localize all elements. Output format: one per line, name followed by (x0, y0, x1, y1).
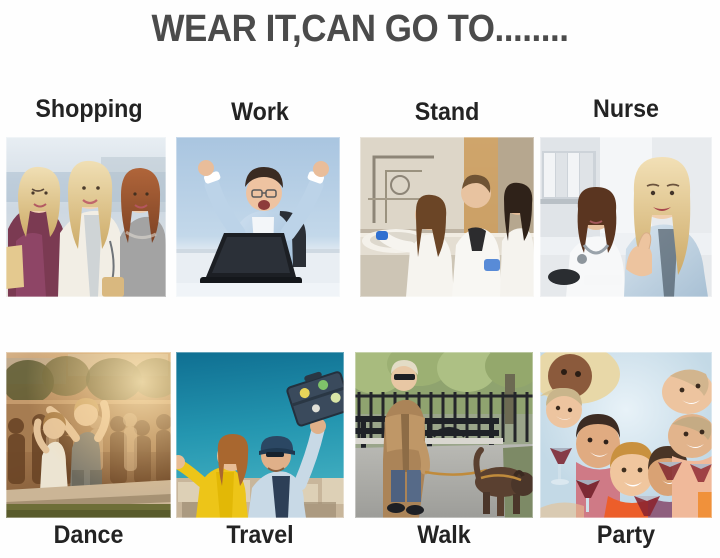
tile-label-walk: Walk (361, 521, 527, 550)
walk-photo (355, 352, 533, 518)
nurse-photo (540, 137, 712, 297)
shopping-photo (6, 137, 166, 297)
tile-label-nurse: Nurse (546, 95, 706, 124)
work-photo (176, 137, 340, 297)
tile-label-work: Work (182, 98, 338, 127)
tile-label-party: Party (546, 521, 706, 550)
party-photo (540, 352, 712, 518)
tile-label-stand: Stand (366, 98, 528, 127)
dance-photo (6, 352, 171, 518)
tile-label-dance: Dance (12, 521, 165, 550)
tile-label-travel: Travel (182, 521, 338, 550)
tile-label-shopping: Shopping (12, 95, 166, 124)
travel-photo (176, 352, 344, 518)
promo-graphic: WEAR IT,CAN GO TO........ Shopping Work … (0, 0, 720, 558)
page-title: WEAR IT,CAN GO TO........ (29, 0, 691, 58)
stand-photo (360, 137, 534, 297)
